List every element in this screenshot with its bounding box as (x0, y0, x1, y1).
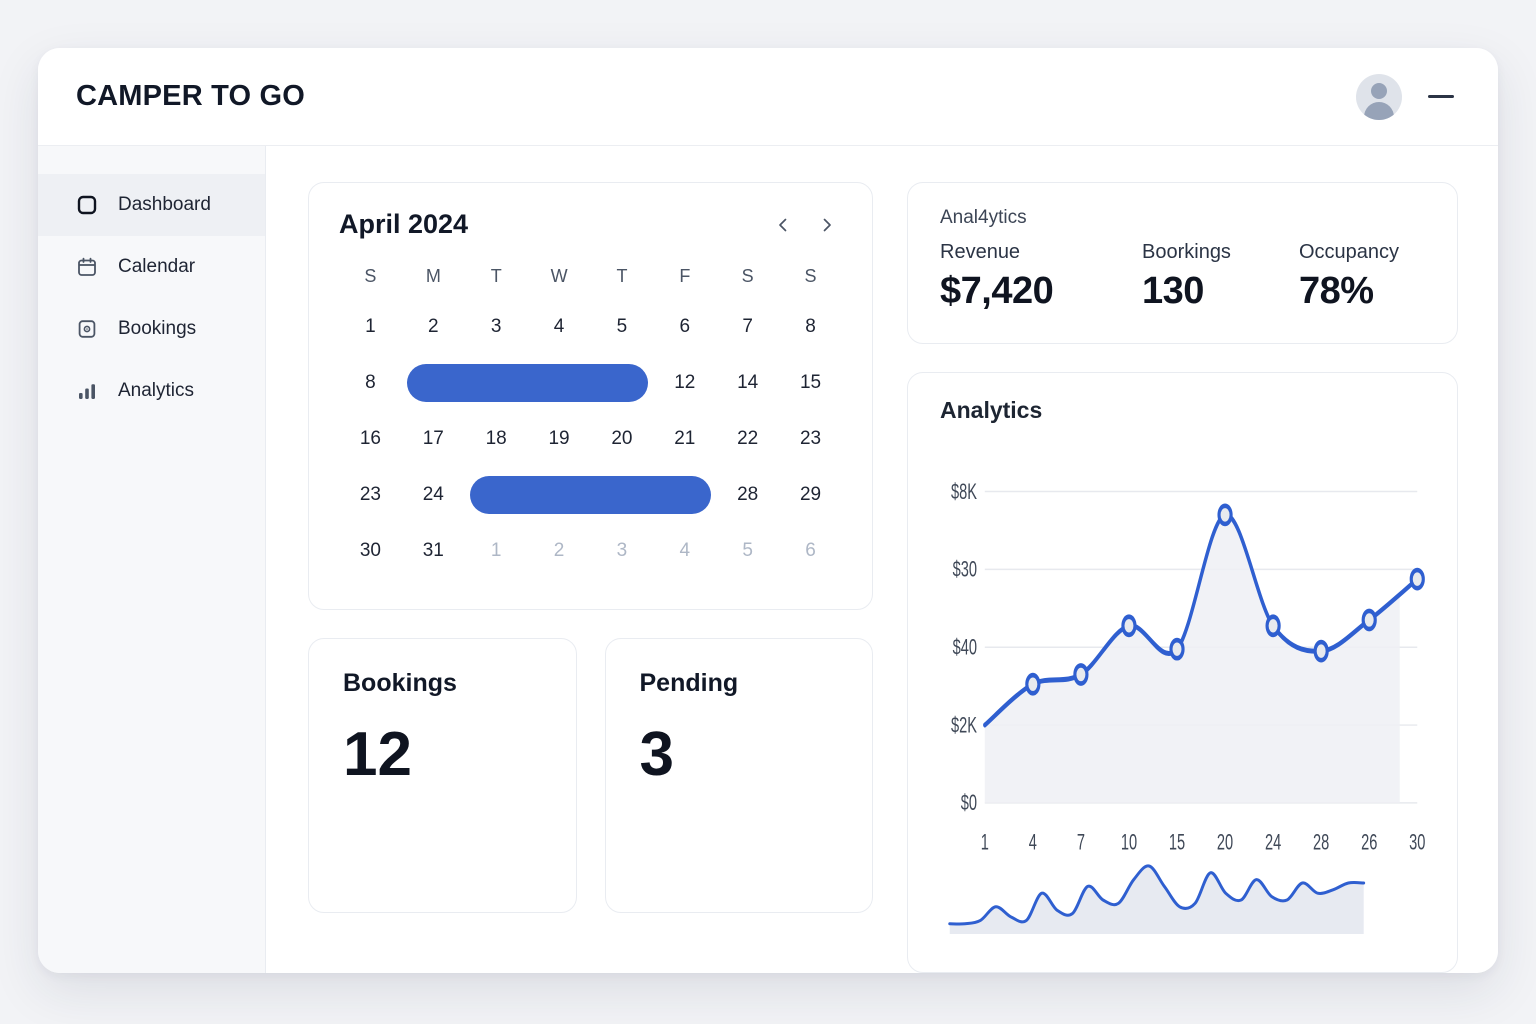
kpi-summary-card: Anal4ytics Revenue$7,420Boorkings130Occu… (907, 182, 1458, 344)
chart-area-fill (985, 515, 1417, 803)
chart-data-point[interactable] (1363, 611, 1375, 629)
kpi-card-caption: Anal4ytics (940, 207, 1425, 229)
calendar-header: April 2024 (339, 209, 842, 240)
calendar-day-cell[interactable]: 31 (402, 540, 465, 562)
calendar-weekday-label: W (528, 266, 591, 287)
chart-y-tick-label: $30 (953, 557, 977, 582)
sidebar-item-label: Bookings (118, 318, 196, 340)
kpi-metric-value: $7,420 (940, 270, 1142, 313)
kpi-metric-value: 78% (1299, 270, 1399, 313)
calendar-day-cell[interactable]: 2 (402, 316, 465, 338)
chart-x-tick-label: 30 (1409, 830, 1425, 854)
calendar-nav-buttons (768, 210, 842, 240)
calendar-weekday-label: S (779, 266, 842, 287)
calendar-day-cell[interactable]: 8 (339, 372, 402, 394)
calendar-day-cell[interactable]: 28 (716, 484, 779, 506)
square-dashboard-icon (76, 194, 98, 216)
kpi-metric: Occupancy78% (1299, 241, 1399, 313)
calendar-day-cell[interactable]: 16 (339, 428, 402, 450)
calendar-day-cell[interactable]: 5 (591, 316, 654, 338)
stat-tile-label: Bookings (343, 669, 542, 698)
chevron-right-icon (818, 216, 836, 234)
calendar-day-cell[interactable]: 29 (779, 484, 842, 506)
stat-tile-value: 12 (343, 724, 542, 786)
sidebar-item-analytics[interactable]: Analytics (38, 360, 265, 422)
sidebar-item-dashboard[interactable]: Dashboard (38, 174, 265, 236)
bar-chart-icon (76, 380, 98, 402)
calendar-day-cell[interactable]: 2 (528, 540, 591, 562)
titlebar-actions (1356, 74, 1454, 120)
kpi-metric-name: Occupancy (1299, 241, 1399, 264)
calendar-day-cell[interactable]: 20 (591, 428, 654, 450)
calendar-weekday-header: SMTWTFSS (339, 266, 842, 287)
calendar-week-row: 8121415 (339, 355, 842, 411)
calendar-day-cell[interactable]: 3 (465, 316, 528, 338)
line-chart: $8K$30$40$2K$014710152024282630 (940, 438, 1427, 854)
body-split: Dashboard Calendar (38, 146, 1498, 973)
calendar-day-cell[interactable]: 12 (653, 372, 716, 394)
calendar-weekday-label: F (653, 266, 716, 287)
app-window: CAMPER TO GO Dashboard (38, 48, 1498, 973)
stat-tile-label: Pending (640, 669, 839, 698)
minimize-icon[interactable] (1428, 95, 1454, 98)
chart-data-point[interactable] (1315, 642, 1327, 660)
calendar-next-button[interactable] (812, 210, 842, 240)
user-avatar-icon[interactable] (1356, 74, 1402, 120)
sidebar-item-calendar[interactable]: Calendar (38, 236, 265, 298)
calendar-weekday-label: T (465, 266, 528, 287)
calendar-day-cell[interactable]: 1 (465, 540, 528, 562)
chart-data-point[interactable] (1219, 506, 1231, 524)
calendar-day-cell[interactable]: 14 (716, 372, 779, 394)
kpi-metric: Revenue$7,420 (940, 241, 1142, 313)
stat-tile-value: 3 (640, 724, 839, 786)
analytics-chart-title: Analytics (940, 397, 1427, 424)
chart-data-point[interactable] (1123, 617, 1135, 635)
right-column: Anal4ytics Revenue$7,420Boorkings130Occu… (907, 182, 1458, 973)
calendar-day-cell[interactable]: 7 (716, 316, 779, 338)
chevron-left-icon (774, 216, 792, 234)
calendar-day-cell[interactable]: 6 (653, 316, 716, 338)
chart-x-tick-label: 15 (1169, 830, 1185, 854)
calendar-day-cell[interactable]: 22 (716, 428, 779, 450)
calendar-week-row: 23242829 (339, 467, 842, 523)
chart-y-tick-label: $0 (961, 790, 977, 815)
sidebar-item-bookings[interactable]: Bookings (38, 298, 265, 360)
calendar-day-cell[interactable]: 18 (465, 428, 528, 450)
booking-tag-icon (76, 318, 98, 340)
calendar-day-cell[interactable]: 6 (779, 540, 842, 562)
sparkline-chart (940, 854, 1427, 946)
chart-x-tick-label: 26 (1361, 830, 1377, 854)
calendar-day-cell[interactable]: 4 (528, 316, 591, 338)
calendar-weekday-label: M (402, 266, 465, 287)
chart-data-point[interactable] (1171, 640, 1183, 658)
calendar-day-cell[interactable]: 15 (779, 372, 842, 394)
calendar-day-cell[interactable]: 4 (653, 540, 716, 562)
kpi-metric: Boorkings130 (1142, 241, 1299, 313)
chart-data-point[interactable] (1027, 675, 1039, 693)
chart-data-point[interactable] (1267, 617, 1279, 635)
chart-x-tick-label: 7 (1077, 830, 1085, 854)
sidebar: Dashboard Calendar (38, 146, 266, 973)
calendar-day-cell[interactable]: 23 (339, 484, 402, 506)
calendar-day-cell[interactable]: 30 (339, 540, 402, 562)
chart-x-tick-label: 28 (1313, 830, 1329, 854)
kpi-metric-name: Revenue (940, 241, 1142, 264)
calendar-day-cell[interactable]: 1 (339, 316, 402, 338)
main-content: April 2024 (266, 146, 1498, 973)
calendar-week-row: 3031123456 (339, 523, 842, 579)
calendar-grid: 1234567881214151617181920212223232428293… (339, 299, 842, 579)
calendar-weekday-label: T (591, 266, 654, 287)
left-column: April 2024 (308, 182, 873, 973)
calendar-day-cell[interactable]: 19 (528, 428, 591, 450)
chart-x-tick-label: 10 (1121, 830, 1137, 854)
chart-x-tick-label: 4 (1029, 830, 1037, 854)
calendar-day-cell[interactable]: 23 (779, 428, 842, 450)
calendar-prev-button[interactable] (768, 210, 798, 240)
stat-tile: Pending3 (605, 638, 874, 913)
stat-tiles-row: Bookings12Pending3 (308, 638, 873, 913)
analytics-chart-card: Analytics $8K$30$40$2K$01471015202428263… (907, 372, 1458, 973)
calendar-month-title: April 2024 (339, 209, 468, 240)
chart-x-tick-label: 24 (1265, 830, 1281, 854)
title-bar: CAMPER TO GO (38, 48, 1498, 146)
calendar-weekday-label: S (716, 266, 779, 287)
calendar-week-row: 12345678 (339, 299, 842, 355)
calendar-week-row: 1617181920212223 (339, 411, 842, 467)
chart-x-tick-label: 1 (981, 830, 989, 854)
calendar-day-cell[interactable]: 17 (402, 428, 465, 450)
sidebar-item-label: Calendar (118, 256, 195, 278)
chart-y-tick-label: $8K (951, 479, 977, 504)
calendar-booking-range-bar[interactable] (407, 364, 649, 402)
chart-data-point[interactable] (1075, 665, 1087, 683)
sidebar-item-label: Analytics (118, 380, 194, 402)
chart-y-tick-label: $40 (953, 635, 977, 660)
page-title: CAMPER TO GO (76, 80, 305, 113)
chart-x-tick-label: 20 (1217, 830, 1233, 854)
chart-data-point[interactable] (1411, 570, 1423, 588)
sidebar-item-label: Dashboard (118, 194, 211, 216)
calendar-card: April 2024 (308, 182, 873, 610)
calendar-day-cell[interactable]: 5 (716, 540, 779, 562)
chart-y-tick-label: $2K (951, 712, 977, 737)
calendar-icon (76, 256, 98, 278)
kpi-metric-name: Boorkings (1142, 241, 1299, 264)
kpi-row: Revenue$7,420Boorkings130Occupancy78% (940, 241, 1425, 313)
calendar-day-cell[interactable]: 3 (591, 540, 654, 562)
kpi-metric-value: 130 (1142, 270, 1299, 313)
calendar-day-cell[interactable]: 8 (779, 316, 842, 338)
calendar-day-cell[interactable]: 24 (402, 484, 465, 506)
calendar-booking-range-bar[interactable] (470, 476, 712, 514)
calendar-day-cell[interactable]: 21 (653, 428, 716, 450)
calendar-weekday-label: S (339, 266, 402, 287)
stat-tile: Bookings12 (308, 638, 577, 913)
